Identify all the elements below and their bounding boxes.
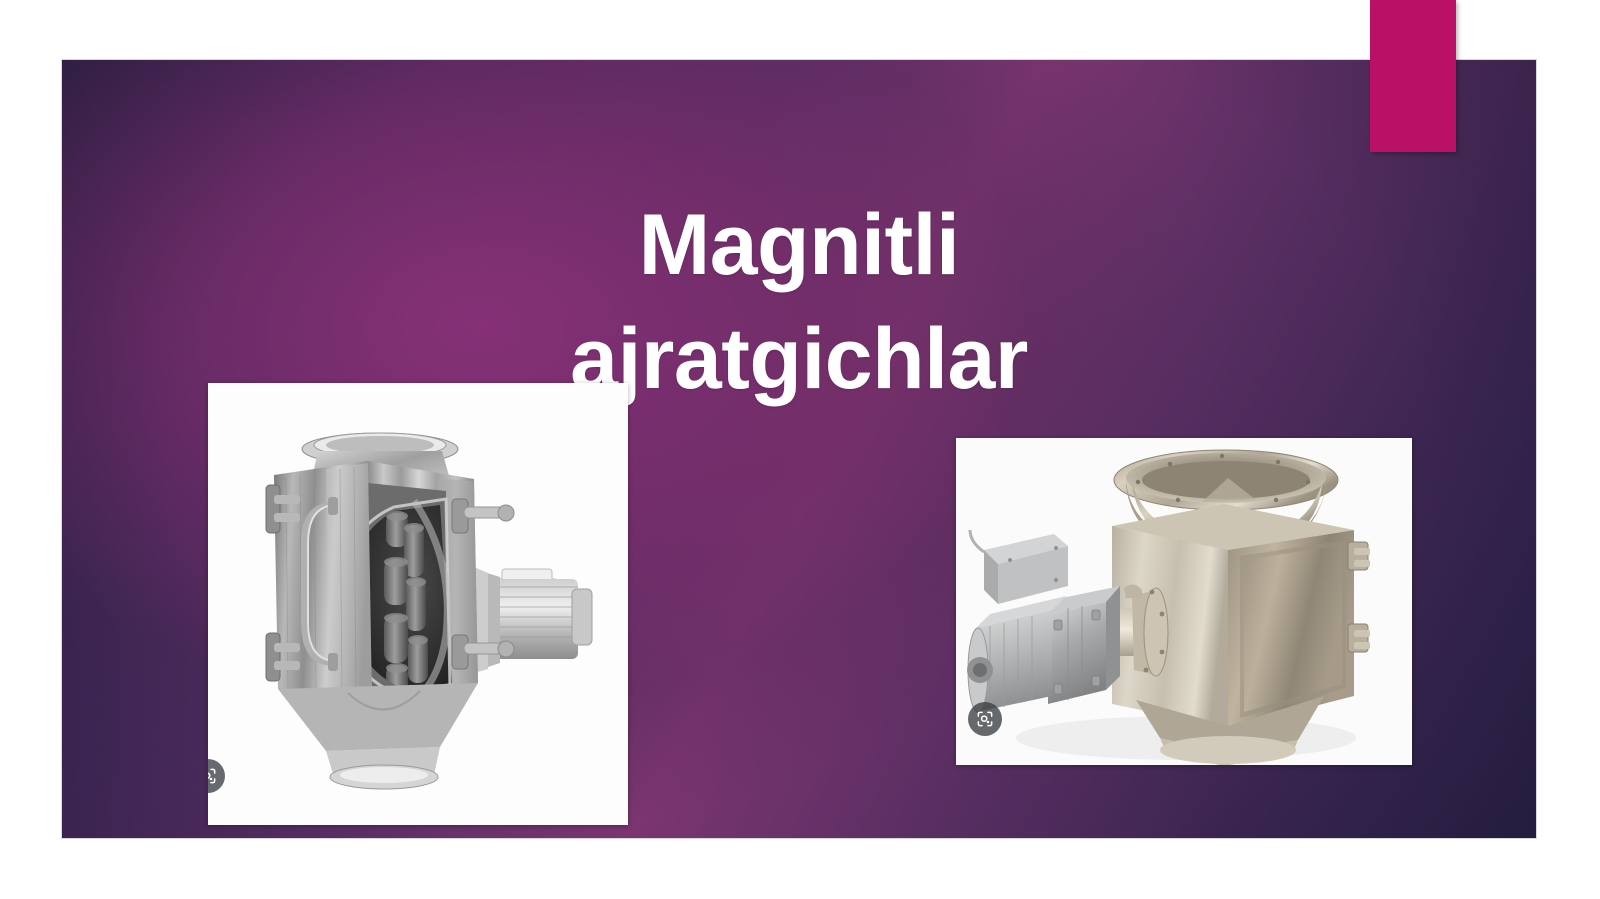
slide-title-line-2: ajratgichlar [570, 302, 1028, 416]
google-lens-icon [975, 709, 995, 729]
magnetic-separator-cutaway-photo [208, 383, 628, 825]
page-canvas: Magnitli ajratgichlar [0, 0, 1600, 899]
magnetic-separator-with-gearmotor-photo [956, 438, 1412, 765]
slide-title-line-1: Magnitli [639, 188, 960, 302]
picture-right[interactable] [956, 438, 1412, 765]
google-lens-icon [208, 766, 218, 786]
accent-rectangle [1370, 0, 1456, 152]
presentation-slide: Magnitli ajratgichlar [62, 60, 1536, 838]
picture-left[interactable] [208, 383, 628, 825]
google-lens-badge-right[interactable] [968, 702, 1002, 736]
